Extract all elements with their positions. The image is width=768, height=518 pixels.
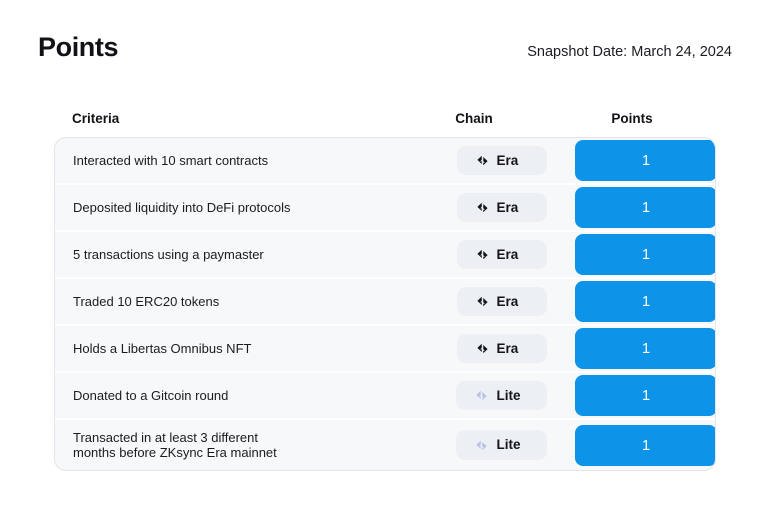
cell-criteria: Interacted with 10 smart contracts bbox=[55, 153, 428, 168]
chain-badge: Era bbox=[457, 146, 547, 176]
criteria-label: Transacted in at least 3 different bbox=[73, 430, 428, 445]
chain-label: Era bbox=[497, 248, 519, 262]
zksync-era-arrows-icon bbox=[475, 201, 490, 214]
criteria-label: Traded 10 ERC20 tokens bbox=[73, 294, 428, 309]
page-header: Points Snapshot Date: March 24, 2024 bbox=[38, 34, 732, 74]
chain-badge: Era bbox=[457, 240, 547, 270]
column-header-criteria: Criteria bbox=[72, 110, 119, 128]
page-title: Points bbox=[38, 34, 118, 61]
points-badge: 1 bbox=[575, 425, 716, 466]
table-row: Traded 10 ERC20 tokensEra1 bbox=[55, 279, 715, 326]
cell-criteria: 5 transactions using a paymaster bbox=[55, 247, 428, 262]
table-row: Interacted with 10 smart contractsEra1 bbox=[55, 138, 715, 185]
column-header-points: Points bbox=[567, 110, 697, 128]
cell-points: 1 bbox=[575, 281, 716, 322]
zksync-era-arrows-icon bbox=[475, 342, 490, 355]
cell-criteria: Holds a Libertas Omnibus NFT bbox=[55, 341, 428, 356]
table-row: Donated to a Gitcoin roundLite1 bbox=[55, 373, 715, 420]
points-badge: 1 bbox=[575, 281, 716, 322]
criteria-label: 5 transactions using a paymaster bbox=[73, 247, 428, 262]
points-badge: 1 bbox=[575, 375, 716, 416]
points-page: Points Snapshot Date: March 24, 2024 Cri… bbox=[0, 0, 768, 518]
cell-points: 1 bbox=[575, 187, 716, 228]
column-header-chain: Chain bbox=[409, 110, 539, 128]
cell-chain: Lite bbox=[428, 430, 575, 460]
criteria-label: Donated to a Gitcoin round bbox=[73, 388, 428, 403]
chain-label: Era bbox=[497, 201, 519, 215]
chain-label: Era bbox=[497, 154, 519, 168]
chain-badge: Era bbox=[457, 193, 547, 223]
cell-criteria: Traded 10 ERC20 tokens bbox=[55, 294, 428, 309]
cell-chain: Lite bbox=[428, 381, 575, 411]
zksync-lite-arrows-icon bbox=[474, 439, 489, 452]
cell-criteria: Donated to a Gitcoin round bbox=[55, 388, 428, 403]
zksync-era-arrows-icon bbox=[475, 248, 490, 261]
snapshot-date: Snapshot Date: March 24, 2024 bbox=[527, 45, 732, 60]
zksync-era-arrows-icon bbox=[475, 295, 490, 308]
table-row: Transacted in at least 3 differentmonths… bbox=[55, 420, 715, 470]
chain-badge: Era bbox=[457, 287, 547, 317]
criteria-label-line2: months before ZKsync Era mainnet bbox=[73, 445, 277, 460]
points-badge: 1 bbox=[575, 234, 716, 275]
zksync-era-arrows-icon bbox=[475, 154, 490, 167]
cell-criteria: Transacted in at least 3 differentmonths… bbox=[55, 430, 428, 460]
cell-chain: Era bbox=[428, 287, 575, 317]
chain-label: Era bbox=[497, 295, 519, 309]
criteria-label: Deposited liquidity into DeFi protocols bbox=[73, 200, 428, 215]
chain-label: Lite bbox=[496, 389, 520, 403]
points-badge: 1 bbox=[575, 140, 716, 181]
table-column-headers: Criteria Chain Points bbox=[54, 110, 716, 132]
criteria-label: Interacted with 10 smart contracts bbox=[73, 153, 428, 168]
table-row: Deposited liquidity into DeFi protocolsE… bbox=[55, 185, 715, 232]
table-row: 5 transactions using a paymasterEra1 bbox=[55, 232, 715, 279]
cell-criteria: Deposited liquidity into DeFi protocols bbox=[55, 200, 428, 215]
points-badge: 1 bbox=[575, 328, 716, 369]
chain-badge: Lite bbox=[456, 381, 546, 411]
chain-badge: Lite bbox=[456, 430, 546, 460]
points-table: Interacted with 10 smart contractsEra1De… bbox=[54, 137, 716, 471]
cell-points: 1 bbox=[575, 375, 716, 416]
criteria-label: Holds a Libertas Omnibus NFT bbox=[73, 341, 428, 356]
cell-chain: Era bbox=[428, 193, 575, 223]
points-badge: 1 bbox=[575, 187, 716, 228]
zksync-lite-arrows-icon bbox=[474, 389, 489, 402]
chain-badge: Era bbox=[457, 334, 547, 364]
table-row: Holds a Libertas Omnibus NFTEra1 bbox=[55, 326, 715, 373]
cell-points: 1 bbox=[575, 234, 716, 275]
cell-chain: Era bbox=[428, 334, 575, 364]
chain-label: Lite bbox=[496, 438, 520, 452]
cell-points: 1 bbox=[575, 328, 716, 369]
cell-chain: Era bbox=[428, 240, 575, 270]
cell-points: 1 bbox=[575, 140, 716, 181]
cell-chain: Era bbox=[428, 146, 575, 176]
chain-label: Era bbox=[497, 342, 519, 356]
cell-points: 1 bbox=[575, 425, 716, 466]
